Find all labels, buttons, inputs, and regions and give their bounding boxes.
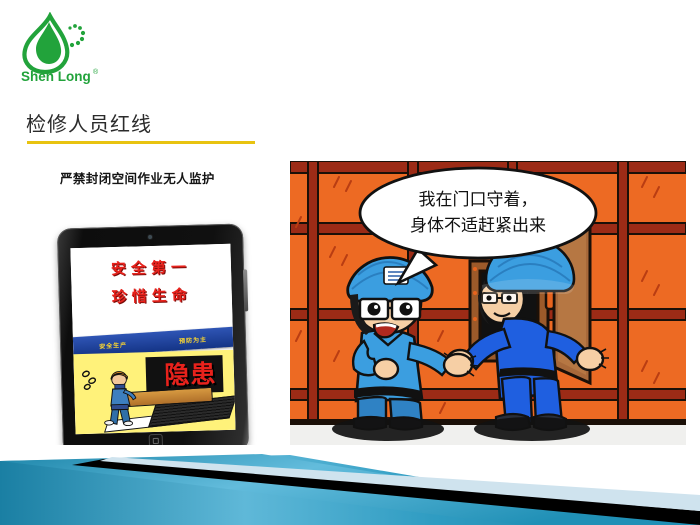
hand-right xyxy=(577,348,603,370)
poster-headline-line1: 安全第一 xyxy=(71,255,232,280)
illustration-canvas: 我在门口守着， 身体不适赶紧出来 xyxy=(290,161,686,447)
pointing-hand xyxy=(444,354,472,376)
logo-wordmark: Shen Long xyxy=(21,69,91,84)
poster-big-word: 隐患 xyxy=(164,354,217,391)
bubble-line-1: 我在门口守着， xyxy=(419,190,538,209)
poster-banner-right: 预防为主 xyxy=(179,334,207,345)
tablet-camera xyxy=(148,235,152,239)
confined-space-illustration: 我在门口守着， 身体不适赶紧出来 xyxy=(290,161,686,447)
poster-sweat-drops-icon xyxy=(79,368,106,395)
tablet-device: 安全第一 珍惜生命 安全生产 预防为主 隐患 xyxy=(57,223,249,456)
title-underline xyxy=(27,141,255,144)
subtitle-text: 严禁封闭空间作业无人监护 xyxy=(60,168,215,187)
shadow-left xyxy=(332,417,444,441)
shadow-right xyxy=(474,417,590,441)
tablet-figure: 安全第一 珍惜生命 安全生产 预防为主 隐患 xyxy=(52,222,272,462)
bubble-line-2: 身体不适赶紧出来 xyxy=(410,216,546,235)
page-title: 检修人员红线 xyxy=(26,108,152,137)
poster-headline-area: 安全第一 珍惜生命 xyxy=(70,244,232,334)
slide-canvas: Shen Long ® 检修人员红线 严禁封闭空间作业无人监护 安全第一 珍惜生… xyxy=(0,0,700,525)
droplet-logo-icon: Shen Long ® xyxy=(14,12,104,84)
hand-chest xyxy=(374,359,398,379)
registered-mark: ® xyxy=(93,68,99,76)
tablet-screen: 安全第一 珍惜生命 安全生产 预防为主 隐患 xyxy=(70,244,235,434)
poster-headline-line2: 珍惜生命 xyxy=(72,283,233,308)
brand-logo: Shen Long ® xyxy=(14,12,104,84)
tablet-side-button xyxy=(243,269,248,311)
poster-banner-left: 安全生产 xyxy=(99,339,127,350)
poster-illustration-area: 隐患 xyxy=(73,350,235,434)
bottom-decoration xyxy=(0,445,700,525)
safety-poster: 安全第一 珍惜生命 安全生产 预防为主 隐患 xyxy=(70,244,235,434)
